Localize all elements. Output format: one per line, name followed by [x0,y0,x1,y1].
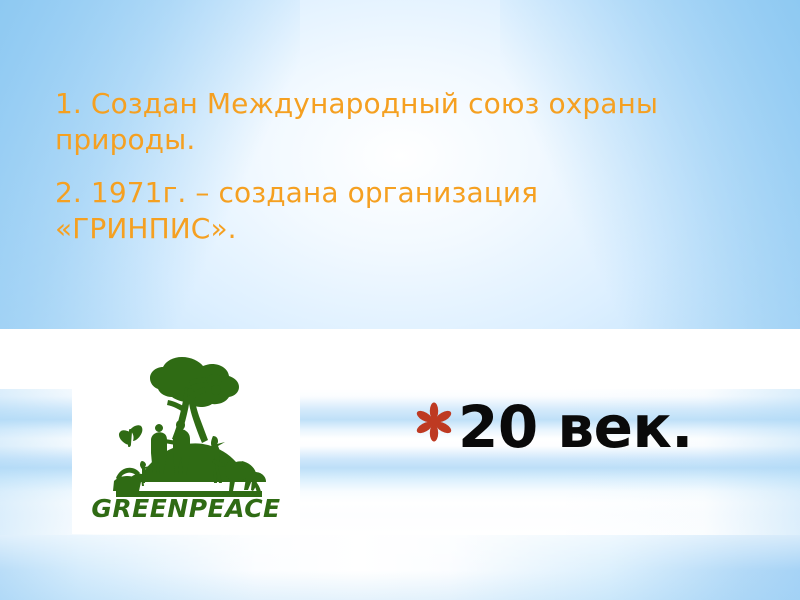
slide-canvas: 1. Создан Международный союз охраны прир… [0,0,800,600]
greenpeace-logo-icon: GREENPEACE [86,345,286,525]
headline-text: 20 век. [458,398,693,456]
headline: 20 век. [414,398,693,456]
body-text-block: 1. Создан Международный союз охраны прир… [55,86,725,248]
body-paragraph-2: 2. 1971г. – создана организация «ГРИНПИС… [55,175,725,248]
background-bottom-band-shade [0,535,800,600]
greenpeace-logo-box: GREENPEACE [72,336,300,534]
body-paragraph-1: 1. Создан Международный союз охраны прир… [55,86,725,159]
asterisk-bullet-icon [414,402,456,444]
greenpeace-wordmark: GREENPEACE [91,494,280,523]
